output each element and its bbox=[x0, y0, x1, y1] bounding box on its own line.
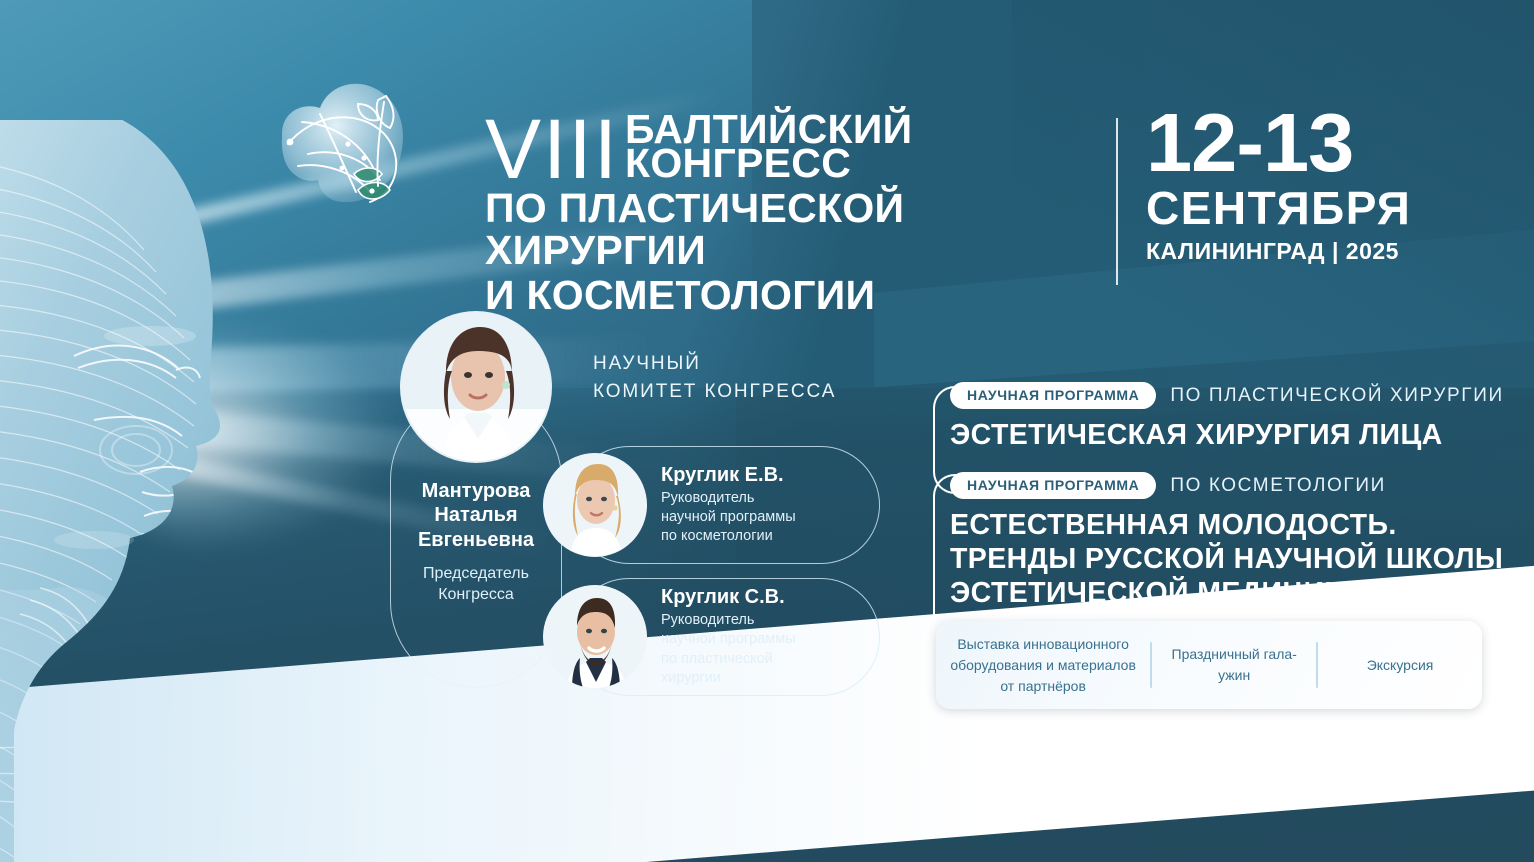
committee-label-line-1: НАУЧНЫЙ bbox=[593, 350, 836, 378]
member-portrait-male-icon bbox=[544, 586, 647, 689]
chair-name: Мантурова Наталья Евгеньевна bbox=[418, 479, 534, 552]
committee-chair-card: Мантурова Наталья Евгеньевна Председател… bbox=[390, 394, 562, 688]
program-block-cosmetology: НАУЧНАЯ ПРОГРАММА ПО КОСМЕТОЛОГИИ ЕСТЕСТ… bbox=[950, 472, 1503, 611]
events-card: Выставка инновационного оборудования и м… bbox=[936, 621, 1482, 709]
chair-name-line-2: Наталья bbox=[418, 503, 534, 527]
member-role-line-1: Руководитель bbox=[661, 611, 796, 630]
member-name: Круглик Е.В. bbox=[661, 464, 796, 486]
chair-portrait-icon bbox=[402, 313, 552, 463]
committee-member-card: Круглик С.В. Руководитель научной програ… bbox=[570, 578, 880, 696]
program-subject: ПО КОСМЕТОЛОГИИ bbox=[1170, 475, 1386, 497]
event-item-exhibition: Выставка инновационного оборудования и м… bbox=[936, 634, 1150, 697]
program-title: ЕСТЕСТВЕННАЯ МОЛОДОСТЬ. ТРЕНДЫ РУССКОЙ Н… bbox=[950, 508, 1503, 611]
committee-label-line-2: КОМИТЕТ КОНГРЕССА bbox=[593, 378, 836, 406]
event-item-excursion: Экскурсия bbox=[1318, 655, 1482, 676]
program-header-row: НАУЧНАЯ ПРОГРАММА ПО КОСМЕТОЛОГИИ bbox=[950, 472, 1503, 499]
title-line-3: И КОСМЕТОЛОГИИ bbox=[485, 275, 1105, 317]
program-block-plastic-surgery: НАУЧНАЯ ПРОГРАММА ПО ПЛАСТИЧЕСКОЙ ХИРУРГ… bbox=[950, 382, 1504, 452]
chair-name-line-3: Евгеньевна bbox=[418, 528, 534, 552]
program-subject: ПО ПЛАСТИЧЕСКОЙ ХИРУРГИИ bbox=[1170, 385, 1503, 407]
member-role: Руководитель научной программы по пласти… bbox=[661, 611, 796, 688]
avatar bbox=[400, 311, 552, 463]
member-role-line-2: научной программы bbox=[661, 630, 796, 649]
date-block: 12-13 СЕНТЯБРЯ КАЛИНИНГРАД | 2025 bbox=[1146, 104, 1411, 265]
member-role: Руководитель научной программы по космет… bbox=[661, 489, 796, 546]
member-info: Круглик Е.В. Руководитель научной програ… bbox=[661, 464, 796, 546]
member-role-line-1: Руководитель bbox=[661, 489, 796, 508]
date-month: СЕНТЯБРЯ bbox=[1146, 184, 1411, 232]
fish-leaf-logo-icon bbox=[258, 62, 434, 238]
event-item-gala-dinner: Праздничный гала-ужин bbox=[1152, 644, 1316, 686]
program-title: ЭСТЕТИЧЕСКАЯ ХИРУРГИЯ ЛИЦА bbox=[950, 418, 1504, 452]
title-line-2: ПО ПЛАСТИЧЕСКОЙ ХИРУРГИИ bbox=[485, 188, 1105, 272]
date-range: 12-13 bbox=[1146, 104, 1411, 182]
avatar bbox=[543, 585, 647, 689]
title-date-divider bbox=[1116, 118, 1118, 285]
city-year: КАЛИНИНГРАД | 2025 bbox=[1146, 238, 1411, 265]
congress-logo bbox=[258, 62, 434, 238]
committee-label: НАУЧНЫЙ КОМИТЕТ КОНГРЕССА bbox=[593, 350, 836, 405]
member-role-line-3: по пластической bbox=[661, 650, 796, 669]
chair-role: Председатель Конгресса bbox=[423, 564, 529, 606]
chair-role-line-2: Конгресса bbox=[423, 585, 529, 606]
member-role-line-2: научной программы bbox=[661, 508, 796, 527]
member-portrait-female-icon bbox=[544, 454, 647, 557]
member-name: Круглик С.В. bbox=[661, 586, 796, 608]
avatar bbox=[543, 453, 647, 557]
committee-member-card: Круглик Е.В. Руководитель научной програ… bbox=[570, 446, 880, 564]
program-header-row: НАУЧНАЯ ПРОГРАММА ПО ПЛАСТИЧЕСКОЙ ХИРУРГ… bbox=[950, 382, 1504, 409]
member-role-line-4: хирургии bbox=[661, 669, 796, 688]
chair-role-line-1: Председатель bbox=[423, 564, 529, 585]
title-line-1: БАЛТИЙСКИЙ КОНГРЕСС bbox=[625, 112, 1105, 185]
roman-numeral: VIII bbox=[485, 114, 619, 185]
member-info: Круглик С.В. Руководитель научной програ… bbox=[661, 586, 796, 688]
congress-banner: VIII БАЛТИЙСКИЙ КОНГРЕСС ПО ПЛАСТИЧЕСКОЙ… bbox=[0, 0, 1534, 862]
program-badge: НАУЧНАЯ ПРОГРАММА bbox=[950, 472, 1156, 499]
program-badge: НАУЧНАЯ ПРОГРАММА bbox=[950, 382, 1156, 409]
member-role-line-3: по косметологии bbox=[661, 527, 796, 546]
chair-name-line-1: Мантурова bbox=[418, 479, 534, 503]
congress-title: VIII БАЛТИЙСКИЙ КОНГРЕСС ПО ПЛАСТИЧЕСКОЙ… bbox=[485, 112, 1105, 316]
